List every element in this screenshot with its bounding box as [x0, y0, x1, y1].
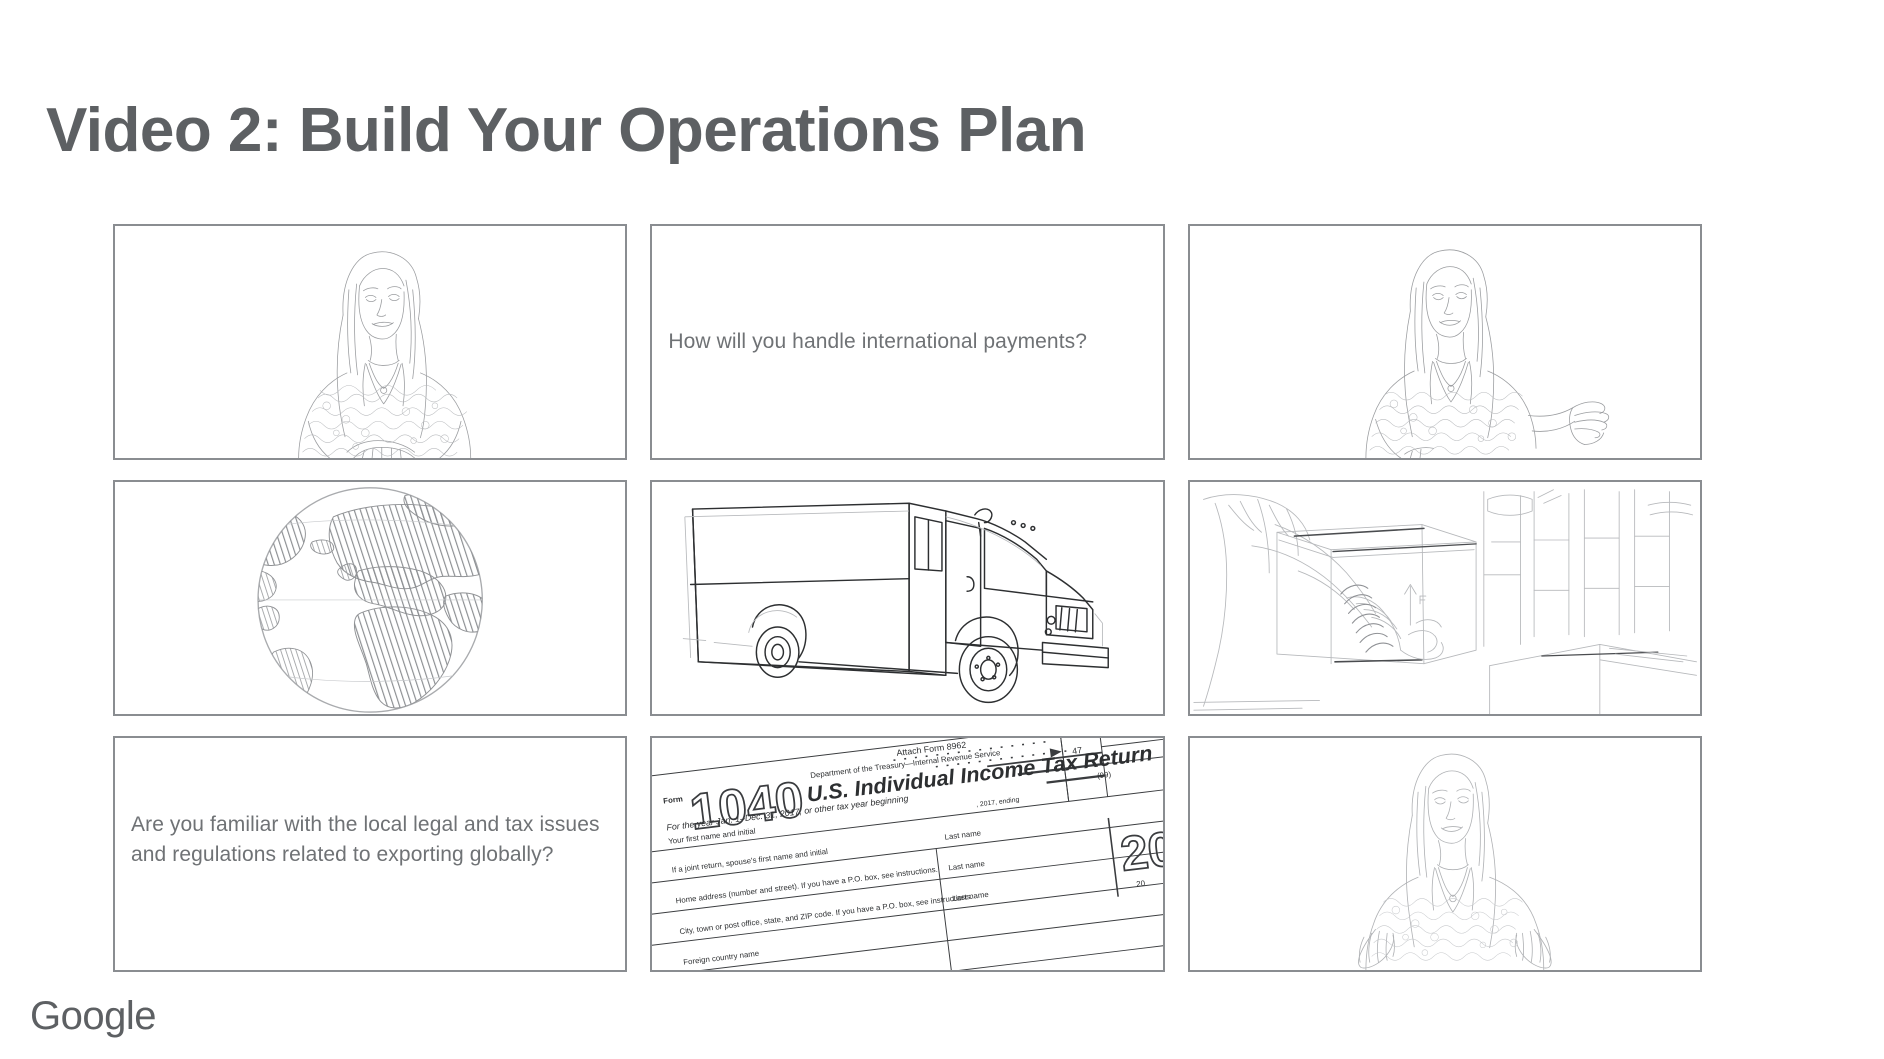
hands-holding-box-icon [1190, 482, 1700, 714]
storyboard-frame-9[interactable] [1188, 736, 1702, 972]
storyboard-frame-3[interactable] [1188, 224, 1702, 460]
storyboard-frame-1[interactable] [113, 224, 627, 460]
storyboard-frame-8[interactable]: 1040 Form Department of the Treasury—Int… [650, 736, 1164, 972]
presenter-hands-clasped-icon [115, 226, 625, 458]
slide-canvas: Video 2: Build Your Operations Plan [0, 0, 1884, 1059]
globe-icon [115, 482, 625, 714]
svg-text:47: 47 [1072, 745, 1083, 756]
storyboard-frame-5[interactable] [650, 480, 1164, 716]
delivery-truck-icon [652, 482, 1162, 714]
svg-text:(99): (99) [1097, 770, 1112, 781]
storyboard-frame-7[interactable]: Are you familiar with the local legal an… [113, 736, 627, 972]
tax-form-1040-icon: 1040 Form Department of the Treasury—Int… [652, 738, 1162, 970]
presenter-gesturing-right-hand-icon [1190, 226, 1700, 458]
presenter-both-hands-open-icon [1190, 738, 1700, 970]
storyboard-frame-2[interactable]: How will you handle international paymen… [650, 224, 1164, 460]
google-wordmark: Google [30, 996, 156, 1036]
storyboard-frame-6[interactable] [1188, 480, 1702, 716]
storyboard-frame-4[interactable] [113, 480, 627, 716]
frame-caption-text: Are you familiar with the local legal an… [131, 810, 601, 870]
storyboard-grid: How will you handle international paymen… [113, 224, 1702, 972]
frame-caption-text: How will you handle international paymen… [668, 327, 1138, 357]
page-title: Video 2: Build Your Operations Plan [46, 98, 1086, 163]
